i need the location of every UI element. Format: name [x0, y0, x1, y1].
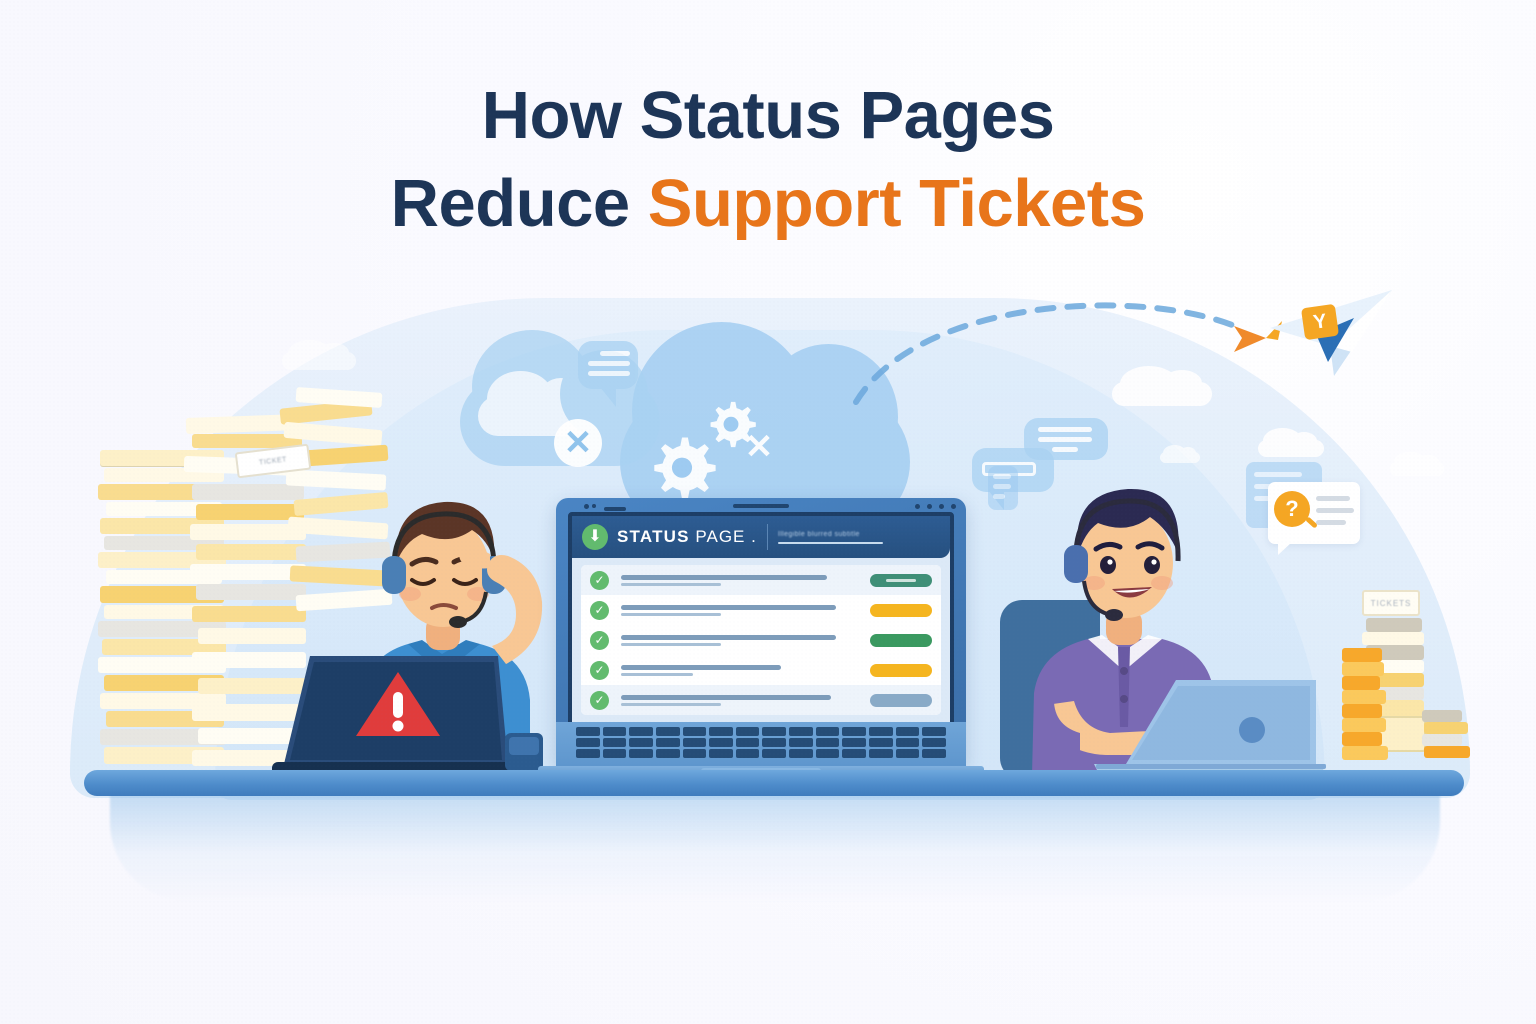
- check-circle-icon: ✓: [590, 691, 609, 710]
- bezel-bar: [604, 507, 626, 511]
- mouse-device: [505, 733, 543, 771]
- status-page-title-light: PAGE .: [690, 527, 757, 546]
- title-line-1: How Status Pages: [0, 72, 1536, 160]
- status-badge: [870, 694, 932, 707]
- desk-reflection: [110, 792, 1440, 902]
- ticket-stack-right: TICKETS: [1342, 590, 1482, 780]
- bezel-dot: [915, 504, 920, 509]
- status-page-laptop: ⬇ STATUS PAGE . Illegible blurred subtit…: [556, 498, 984, 788]
- title-line-2-accent: Support Tickets: [648, 166, 1146, 241]
- status-page-meta: Illegible blurred subtitle: [778, 531, 883, 544]
- download-circle-icon: ⬇: [582, 524, 608, 550]
- status-page-meta-rule: [778, 542, 883, 544]
- status-badge: [870, 604, 932, 617]
- status-table: ✓ ✓: [581, 565, 941, 715]
- status-page-header: ⬇ STATUS PAGE . Illegible blurred subtit…: [572, 516, 950, 558]
- table-row[interactable]: ✓: [581, 625, 941, 655]
- table-row[interactable]: ✓: [581, 565, 941, 595]
- service-name-placeholder: [621, 605, 860, 616]
- cloud-icon: [1390, 462, 1444, 476]
- cloud-icon: [1258, 440, 1324, 457]
- gear-icon: [700, 392, 762, 454]
- magnifier-question-icon: ?: [1274, 491, 1310, 527]
- status-page-body: ✓ ✓: [572, 558, 950, 724]
- help-question-card: ?: [1268, 482, 1360, 544]
- dashed-arc-path: [850, 290, 1270, 410]
- title-line-2: Reduce Support Tickets: [0, 160, 1536, 248]
- camera-icon: [592, 504, 596, 508]
- laptop-with-alert: [270, 648, 520, 780]
- status-page-title: STATUS PAGE .: [617, 527, 757, 547]
- chat-bubble-icon: [578, 341, 638, 389]
- laptop-keyboard[interactable]: [556, 722, 966, 766]
- page-title: How Status Pages Reduce Support Tickets: [0, 72, 1536, 249]
- status-page-meta-text: Illegible blurred subtitle: [778, 531, 883, 538]
- title-line-2-prefix: Reduce: [391, 166, 648, 241]
- check-circle-icon: ✓: [590, 661, 609, 680]
- plane-badge-icon: Y: [1301, 304, 1339, 340]
- illustration-canvas: ✕ ✕: [0, 0, 1536, 1024]
- header-divider: [767, 524, 768, 550]
- bezel-dot: [927, 504, 932, 509]
- table-row[interactable]: ✓: [581, 595, 941, 625]
- laptop-right: [1080, 668, 1330, 780]
- check-circle-icon: ✓: [590, 571, 609, 590]
- status-badge: [870, 574, 932, 587]
- check-circle-icon: ✓: [590, 601, 609, 620]
- status-page-title-bold: STATUS: [617, 527, 690, 546]
- check-circle-icon: ✓: [590, 631, 609, 650]
- x-mark-icon: ✕: [554, 419, 602, 467]
- status-badge: [870, 664, 932, 677]
- ticket-label: TICKETS: [1362, 590, 1420, 616]
- bezel-dot: [939, 504, 944, 509]
- service-name-placeholder: [621, 575, 860, 586]
- service-name-placeholder: [621, 635, 860, 646]
- bezel-speaker: [733, 504, 789, 508]
- service-name-placeholder: [621, 665, 860, 676]
- table-row[interactable]: ✓: [581, 685, 941, 715]
- table-row[interactable]: ✓: [581, 655, 941, 685]
- camera-icon: [584, 504, 589, 509]
- bezel-dot: [951, 504, 956, 509]
- service-name-placeholder: [621, 695, 860, 706]
- status-badge: [870, 634, 932, 647]
- desk-surface: [84, 770, 1464, 796]
